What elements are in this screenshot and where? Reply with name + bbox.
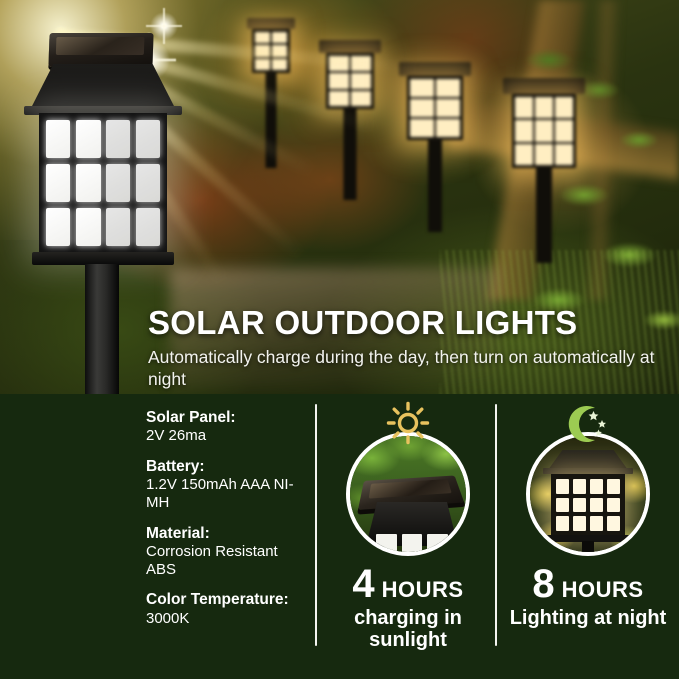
spec-label: Battery: xyxy=(146,458,311,476)
page-subtitle: Automatically charge during the day, the… xyxy=(148,346,668,391)
column-divider xyxy=(315,404,317,646)
spec-item-solar-panel: Solar Panel: 2V 26ma xyxy=(146,409,311,445)
spec-value: 1.2V 150mAh AAA NI-MH xyxy=(146,476,311,511)
feature-caption: charging in sunlight xyxy=(323,607,493,651)
lantern-roof xyxy=(30,64,176,110)
lantern-panes xyxy=(376,534,448,554)
sun-icon xyxy=(323,400,493,446)
spec-value: 3000K xyxy=(146,610,311,628)
lantern-light-cage xyxy=(39,113,167,253)
feature-lighting: 8 HOURS Lighting at night xyxy=(503,400,673,629)
solar-panel-cap xyxy=(48,33,153,67)
feature-charging: 4 HOURS charging in sunlight xyxy=(323,400,493,651)
lantern-pole xyxy=(85,264,119,394)
page-title: SOLAR OUTDOOR LIGHTS xyxy=(148,306,668,339)
headline-block: SOLAR OUTDOOR LIGHTS Automatically charg… xyxy=(148,306,668,391)
product-marketing-image: SOLAR OUTDOOR LIGHTS Automatically charg… xyxy=(0,0,679,679)
spec-label: Color Temperature: xyxy=(146,591,311,609)
column-divider xyxy=(495,404,497,646)
duration-unit: HOURS xyxy=(562,577,644,603)
duration-unit: HOURS xyxy=(382,577,464,603)
duration-number: 8 xyxy=(532,564,554,604)
duration-number: 4 xyxy=(352,564,374,604)
spec-item-color-temperature: Color Temperature: 3000K xyxy=(146,591,311,627)
spec-label: Solar Panel: xyxy=(146,409,311,427)
spec-list: Solar Panel: 2V 26ma Battery: 1.2V 150mA… xyxy=(146,409,311,640)
spec-item-battery: Battery: 1.2V 150mAh AAA NI-MH xyxy=(146,458,311,512)
feature-duration: 4 HOURS xyxy=(323,564,493,604)
background-lantern xyxy=(498,78,590,263)
background-lantern xyxy=(395,62,475,232)
night-lantern-photo xyxy=(526,432,650,556)
moon-stars-icon-svg xyxy=(565,400,611,446)
lantern-post xyxy=(582,541,594,556)
sun-icon-svg xyxy=(385,400,431,446)
lantern-light-cage xyxy=(551,474,625,536)
spec-value: Corrosion Resistant ABS xyxy=(146,543,311,578)
spec-label: Material: xyxy=(146,525,311,543)
solar-panel-closeup-photo xyxy=(346,432,470,556)
hero-photo: SOLAR OUTDOOR LIGHTS Automatically charg… xyxy=(0,0,679,394)
feature-duration: 8 HOURS xyxy=(503,564,673,604)
feature-caption: Lighting at night xyxy=(503,607,673,629)
spec-value: 2V 26ma xyxy=(146,427,311,445)
spec-item-material: Material: Corrosion Resistant ABS xyxy=(146,525,311,579)
moon-stars-icon xyxy=(503,400,673,446)
lantern-face-right xyxy=(106,120,161,246)
lantern-face-left xyxy=(46,120,101,246)
